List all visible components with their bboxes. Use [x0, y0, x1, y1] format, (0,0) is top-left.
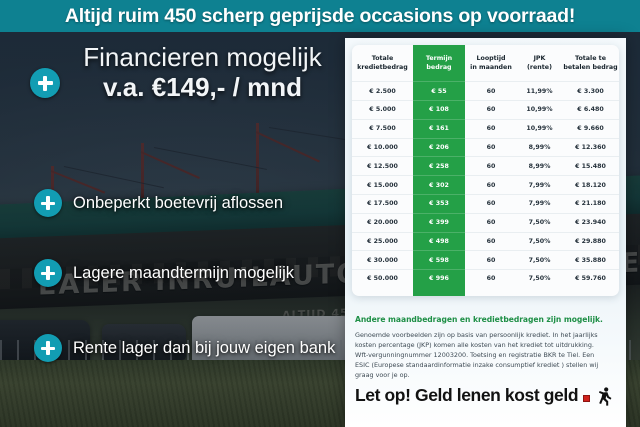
plus-icon — [34, 334, 62, 362]
table-row: € 12.500€ 258608,99%€ 15.480 — [352, 157, 619, 176]
note-title: Andere maandbedragen en kredietbedragen … — [355, 315, 613, 324]
col-header-jpk: JPK (rente) — [517, 45, 562, 82]
table-cell: € 2.500 — [352, 82, 413, 101]
table-cell: 8,99% — [517, 157, 562, 176]
table-cell: 60 — [465, 232, 517, 251]
table-cell: 8,99% — [517, 138, 562, 157]
rates-table: Totale kredietbedrag Termijn bedrag Loop… — [352, 45, 619, 288]
table-cell: € 5.000 — [352, 101, 413, 120]
headline-line-2: v.a. €149,- / mnd — [60, 72, 345, 103]
bullet-item-1: Lagere maandtermijn mogelijk — [34, 259, 294, 287]
table-cell: € 161 — [413, 119, 465, 138]
table-cell: € 15.480 — [562, 157, 619, 176]
running-man-warning-icon — [595, 387, 612, 406]
table-row: € 7.500€ 1616010,99%€ 9.660 — [352, 119, 619, 138]
bullet-label: Lagere maandtermijn mogelijk — [73, 264, 294, 283]
table-cell: 60 — [465, 119, 517, 138]
table-cell: € 12.500 — [352, 157, 413, 176]
table-cell: € 25.000 — [352, 232, 413, 251]
table-row: € 25.000€ 498607,50%€ 29.880 — [352, 232, 619, 251]
table-cell: € 50.000 — [352, 270, 413, 288]
table-cell: € 498 — [413, 232, 465, 251]
table-cell: 7,99% — [517, 176, 562, 195]
plus-icon — [34, 189, 62, 217]
bullet-label: Onbeperkt boetevrij aflossen — [73, 194, 283, 213]
table-cell: € 206 — [413, 138, 465, 157]
table-cell: € 15.000 — [352, 176, 413, 195]
table-cell: 60 — [465, 101, 517, 120]
table-cell: 7,99% — [517, 194, 562, 213]
table-cell: 7,50% — [517, 213, 562, 232]
table-cell: € 21.180 — [562, 194, 619, 213]
table-header-row: Totale kredietbedrag Termijn bedrag Loop… — [352, 45, 619, 82]
rates-card: Totale kredietbedrag Termijn bedrag Loop… — [352, 45, 619, 296]
table-cell: 60 — [465, 270, 517, 288]
table-cell: 7,50% — [517, 270, 562, 288]
table-cell: € 12.360 — [562, 138, 619, 157]
note-body: Genoemde voorbeelden zijn op basis van p… — [355, 330, 609, 381]
advertisement-banner: EALER INRUILAUTO'S JOHAN MEURE ALTIJD 45… — [0, 0, 640, 427]
table-cell: € 30.000 — [352, 251, 413, 270]
table-cell: € 55 — [413, 82, 465, 101]
table-cell: € 6.480 — [562, 101, 619, 120]
table-row: € 20.000€ 399607,50%€ 23.940 — [352, 213, 619, 232]
table-cell: 60 — [465, 251, 517, 270]
table-cell: € 353 — [413, 194, 465, 213]
table-cell: 7,50% — [517, 251, 562, 270]
table-row: € 5.000€ 1086010,99%€ 6.480 — [352, 101, 619, 120]
col-header-krediet: Totale kredietbedrag — [352, 45, 413, 82]
banner-headline: Altijd ruim 450 scherp geprijsde occasio… — [65, 5, 575, 28]
table-cell: € 3.300 — [562, 82, 619, 101]
rates-panel: Totale kredietbedrag Termijn bedrag Loop… — [345, 38, 626, 427]
left-content-column: Financieren mogelijk v.a. €149,- / mnd O… — [0, 32, 348, 427]
table-cell: € 29.880 — [562, 232, 619, 251]
table-cell: € 17.500 — [352, 194, 413, 213]
table-row: € 2.500€ 556011,99%€ 3.300 — [352, 82, 619, 101]
table-cell: € 23.940 — [562, 213, 619, 232]
table-cell: 60 — [465, 157, 517, 176]
plus-icon — [34, 259, 62, 287]
table-cell: € 10.000 — [352, 138, 413, 157]
warning-line: Let op! Geld lenen kost geld — [355, 385, 617, 406]
headline-plus-bullet — [30, 68, 60, 98]
headline-line-1: Financieren mogelijk — [60, 44, 345, 72]
table-cell: 10,99% — [517, 101, 562, 120]
warning-red-box-icon — [583, 395, 590, 402]
table-cell: € 35.880 — [562, 251, 619, 270]
table-row: € 15.000€ 302607,99%€ 18.120 — [352, 176, 619, 195]
table-cell: 60 — [465, 213, 517, 232]
table-cell: € 399 — [413, 213, 465, 232]
table-cell: 60 — [465, 176, 517, 195]
top-banner: Altijd ruim 450 scherp geprijsde occasio… — [0, 0, 640, 32]
bullet-item-0: Onbeperkt boetevrij aflossen — [34, 189, 283, 217]
table-cell: € 7.500 — [352, 119, 413, 138]
table-cell: 10,99% — [517, 119, 562, 138]
table-cell: 60 — [465, 138, 517, 157]
table-cell: € 9.660 — [562, 119, 619, 138]
table-cell: 60 — [465, 194, 517, 213]
col-header-totaal: Totale te betalen bedrag — [562, 45, 619, 82]
plus-icon — [30, 68, 60, 98]
page-title: Financieren mogelijk v.a. €149,- / mnd — [60, 44, 345, 103]
bullet-label: Rente lager dan bij jouw eigen bank — [73, 339, 335, 358]
table-cell: 60 — [465, 82, 517, 101]
table-cell: € 258 — [413, 157, 465, 176]
col-header-looptijd: Looptijd in maanden — [465, 45, 517, 82]
table-cell: € 59.760 — [562, 270, 619, 288]
table-cell: 11,99% — [517, 82, 562, 101]
table-cell: € 20.000 — [352, 213, 413, 232]
table-row: € 50.000€ 996607,50%€ 59.760 — [352, 270, 619, 288]
warning-text: Let op! Geld lenen kost geld — [355, 385, 578, 406]
table-cell: € 108 — [413, 101, 465, 120]
col-header-termijn: Termijn bedrag — [413, 45, 465, 82]
table-cell: € 996 — [413, 270, 465, 288]
table-cell: 7,50% — [517, 232, 562, 251]
table-cell: € 18.120 — [562, 176, 619, 195]
table-cell: € 302 — [413, 176, 465, 195]
table-row: € 10.000€ 206608,99%€ 12.360 — [352, 138, 619, 157]
table-row: € 17.500€ 353607,99%€ 21.180 — [352, 194, 619, 213]
table-cell: € 598 — [413, 251, 465, 270]
bullet-item-2: Rente lager dan bij jouw eigen bank — [34, 334, 335, 362]
table-row: € 30.000€ 598607,50%€ 35.880 — [352, 251, 619, 270]
